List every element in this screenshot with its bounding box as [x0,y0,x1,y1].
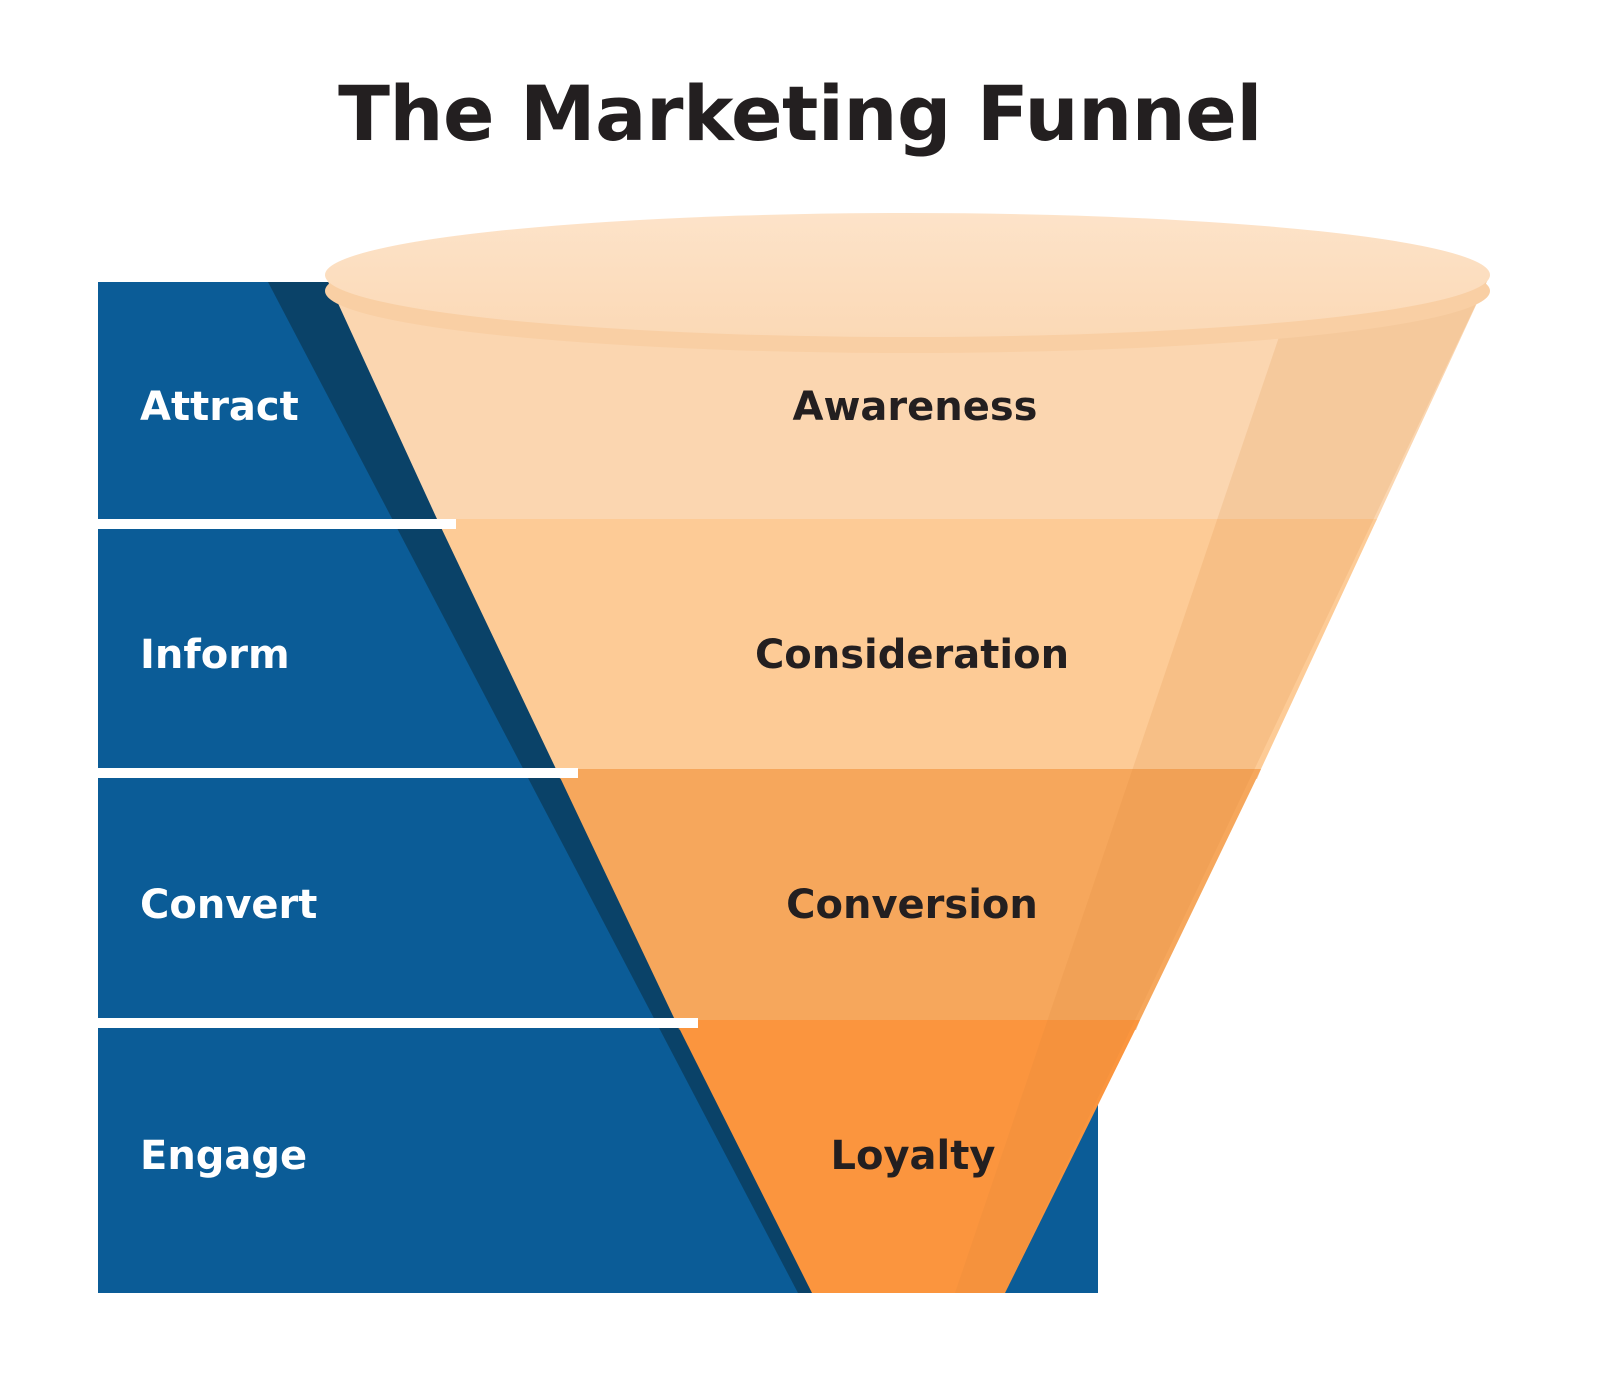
panel-divider-3 [98,1018,698,1028]
funnel-diagram-canvas: The Marketing Funnel [0,0,1600,1378]
action-label-attract: Attract [140,384,299,430]
action-label-convert: Convert [140,882,317,928]
marketing-funnel-figure: Attract Inform Convert Engage Awareness … [0,0,1600,1378]
action-label-engage: Engage [140,1133,307,1179]
panel-divider-2 [98,768,578,778]
stage-label-awareness: Awareness [793,384,1038,430]
stage-label-conversion: Conversion [786,882,1038,928]
funnel-top-face [325,213,1490,337]
action-label-inform: Inform [140,632,290,678]
stage-label-loyalty: Loyalty [831,1133,996,1179]
panel-divider-1 [98,519,456,529]
stage-label-consideration: Consideration [755,632,1069,678]
